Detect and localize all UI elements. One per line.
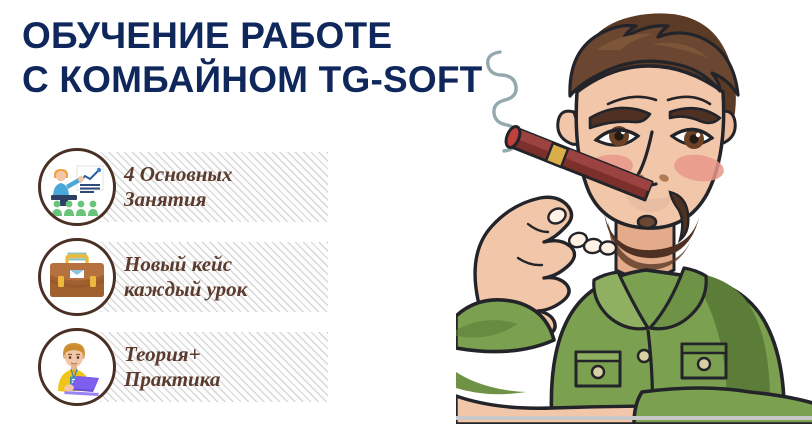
title-line-1: ОБУЧЕНИЕ РАБОТЕ — [22, 14, 482, 58]
feature-label: 4 Основных Занятия — [124, 162, 233, 212]
feature-label: Теория+ Практика — [124, 342, 220, 392]
man-with-cigar-illustration — [456, 0, 812, 424]
feature-card-lessons[interactable]: 4 Основных Занятия — [38, 148, 328, 226]
presentation-training-icon — [38, 148, 116, 226]
briefcase-icon — [38, 238, 116, 316]
title-line-2: С КОМБАЙНОМ TG-SOFT — [22, 58, 482, 102]
feature-label: Новый кейс каждый урок — [124, 252, 247, 302]
feature-list: 4 Основных Занятия Новый кейс к — [38, 148, 328, 418]
page-title: ОБУЧЕНИЕ РАБОТЕ С КОМБАЙНОМ TG-SOFT — [22, 14, 482, 102]
person-laptop-icon — [38, 328, 116, 406]
feature-card-theory-practice[interactable]: Теория+ Практика — [38, 328, 328, 406]
feature-card-cases[interactable]: Новый кейс каждый урок — [38, 238, 328, 316]
